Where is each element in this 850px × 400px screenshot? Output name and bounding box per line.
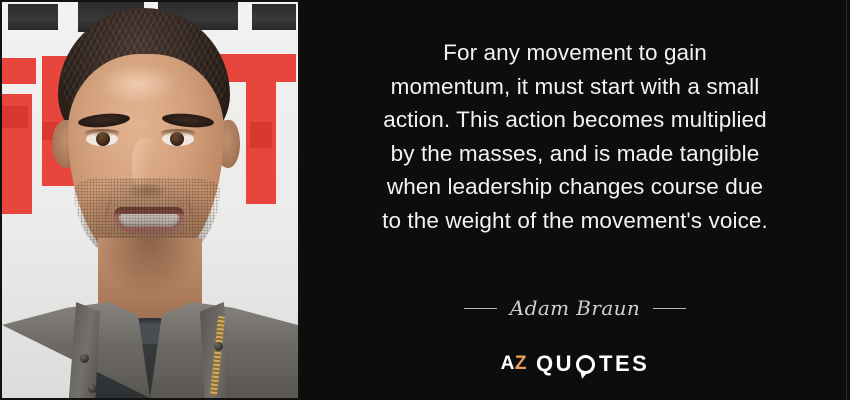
photo-eyelid-right xyxy=(161,129,195,136)
photo-eyelid-left xyxy=(85,129,119,136)
author-photo xyxy=(0,0,300,400)
photo-jacket-snap xyxy=(80,354,89,363)
photo-forehead-highlight xyxy=(98,64,178,104)
quote-card: For any movement to gain momentum, it mu… xyxy=(0,0,850,400)
azquotes-logo[interactable]: A Z Q U T E S xyxy=(300,351,850,377)
author-name: Adam Braun xyxy=(510,296,640,320)
attribution-dash-left xyxy=(464,308,497,309)
logo-letter-s: S xyxy=(632,351,649,377)
quote-panel: For any movement to gain momentum, it mu… xyxy=(300,0,850,400)
logo-letter-a: A xyxy=(501,353,515,375)
panel-edge-line xyxy=(846,0,847,400)
logo-letter-q: Q xyxy=(536,351,556,377)
attribution: Adam Braun xyxy=(300,296,850,320)
quote-text: For any movement to gain momentum, it mu… xyxy=(316,36,834,237)
photo-jacket-snap xyxy=(214,342,223,351)
photo-jacket-snap xyxy=(88,384,97,393)
speech-bubble-icon xyxy=(576,355,595,374)
logo-letter-e: E xyxy=(615,351,632,377)
author-photo-image xyxy=(2,2,298,398)
logo-letter-t: T xyxy=(599,351,615,377)
logo-letter-z: Z xyxy=(515,353,527,375)
attribution-dash-right xyxy=(653,308,686,309)
photo-neck-shadow xyxy=(98,238,202,296)
logo-letter-u: U xyxy=(556,351,574,377)
